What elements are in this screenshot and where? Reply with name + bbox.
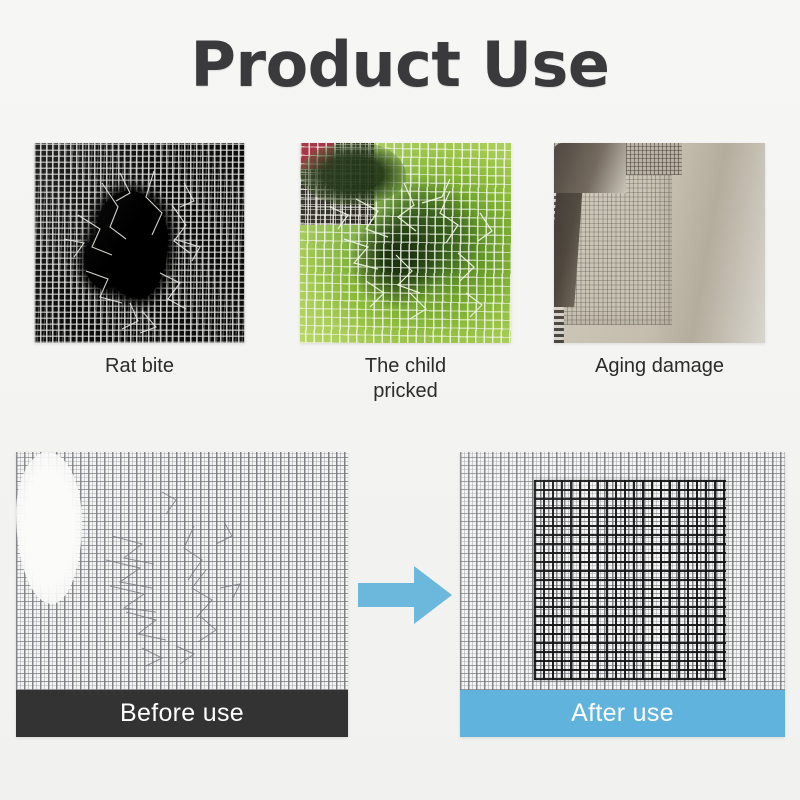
torn-fiber-strands	[300, 143, 511, 343]
comparison-panel-before: Before use	[16, 452, 348, 737]
comparison-panel-after: After use	[460, 452, 785, 737]
transition-arrow	[356, 562, 454, 628]
damage-photo-aging	[554, 143, 765, 343]
damage-caption-aging: Aging damage	[549, 354, 770, 379]
caption-line-2: pricked	[300, 379, 511, 404]
damage-photo-child-pricked	[300, 143, 511, 343]
damage-photo-rat-bite	[34, 143, 245, 343]
torn-fiber-strands	[34, 143, 245, 343]
infographic-page: Product Use Rat bite	[0, 0, 800, 800]
before-photo	[16, 452, 348, 690]
page-title: Product Use	[0, 28, 800, 101]
damage-caption-child-pricked: The child pricked	[300, 354, 511, 404]
arrow-right-icon	[356, 562, 454, 628]
damage-caption-rat-bite: Rat bite	[34, 354, 245, 379]
before-label: Before use	[120, 699, 244, 728]
before-label-bar: Before use	[16, 690, 348, 737]
repair-patch	[534, 480, 726, 680]
dark-debris	[554, 143, 626, 193]
after-photo	[460, 452, 785, 690]
caption-line-1: The child	[300, 354, 511, 379]
after-label: After use	[571, 699, 674, 728]
torn-fiber-strands	[16, 452, 348, 690]
after-label-bar: After use	[460, 690, 785, 737]
